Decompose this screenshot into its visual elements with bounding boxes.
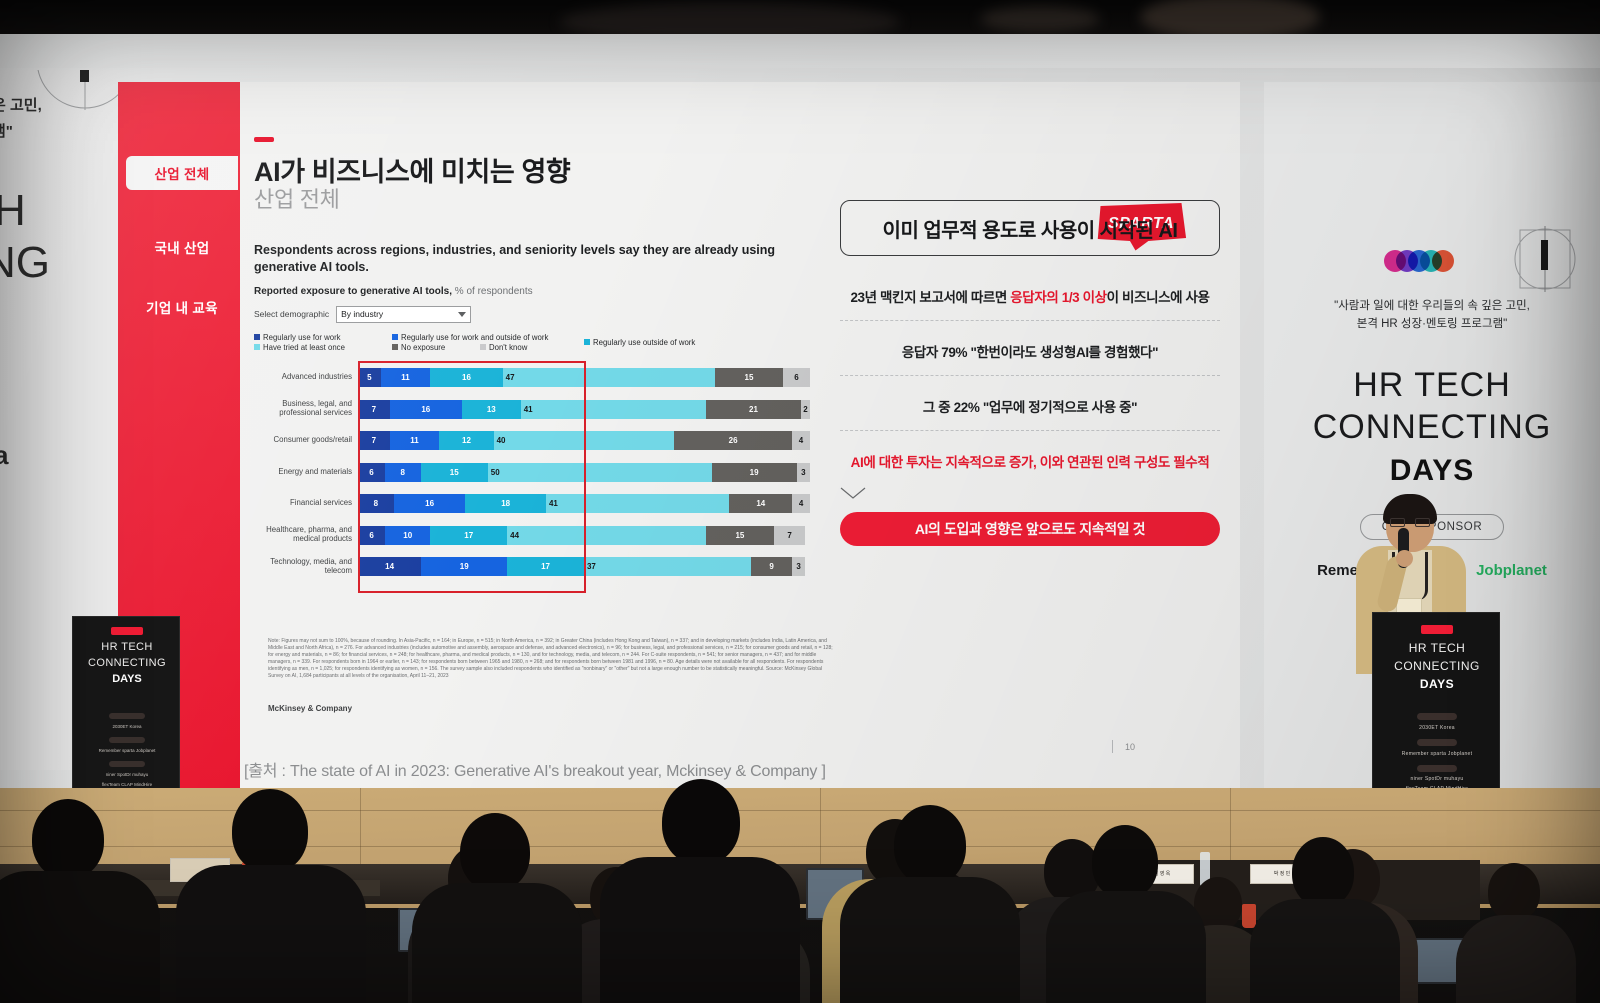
korean-cta-banner: AI의 도입과 영향은 앞으로도 지속적일 것 — [840, 512, 1220, 546]
chart-row-label: Consumer goods/retail — [254, 436, 352, 445]
chart-segment: 5 — [358, 368, 381, 387]
colored-dots-logo-icon — [1384, 250, 1456, 272]
audience: 김 영 옥 박 정 민 — [0, 780, 1600, 1003]
chart-segment: 15 — [706, 526, 774, 545]
audience-person-front — [0, 813, 160, 1003]
chart-segment: 8 — [358, 494, 394, 513]
legend-item-no-exposure: No exposure — [392, 343, 445, 352]
left-edge-quote-2: 램" — [0, 120, 13, 141]
chart-segment: 21 — [706, 400, 801, 419]
legend-label: No exposure — [401, 343, 445, 352]
chart-legend: Regularly use for work Have tried at lea… — [254, 333, 834, 359]
chart-segment: 14 — [358, 557, 421, 576]
left-banner-section-0: 2030ET Korea — [73, 724, 181, 729]
left-edge-title-1: H — [0, 186, 26, 236]
audience-person-front — [412, 827, 582, 1003]
page-subtitle: 산업 전체 — [254, 182, 340, 214]
chart-headline: Respondents across regions, industries, … — [254, 242, 819, 276]
banner-logo-icon — [111, 627, 143, 635]
left-banner-title-1: HR TECH — [73, 641, 181, 653]
chart-segment: 40 — [494, 431, 675, 450]
korean-line-accent: 응답자의 1/3 이상 — [1010, 290, 1106, 305]
podium-sign: HR TECH CONNECTING DAYS 2030ET Korea Rem… — [1372, 612, 1500, 794]
chart-subhead-grey: % of respondents — [455, 286, 533, 297]
chart-segment: 41 — [546, 494, 730, 513]
demographic-select[interactable]: By industry — [336, 306, 471, 323]
korean-line-3: 그 중 22% "업무에 정기적으로 사용 중" — [840, 396, 1220, 431]
audience-person — [1456, 867, 1576, 1003]
korean-line-1: 23년 맥킨지 보고서에 따르면 응답자의 1/3 이상이 비즈니스에 사용 — [840, 286, 1220, 321]
chart-row-label: Advanced industries — [254, 373, 352, 382]
chart-row-bars: 6101744157 — [358, 526, 810, 545]
korean-summary-panel: 이미 업무적 용도로 사용이 시작된 AI 23년 맥킨지 보고서에 따르면 응… — [840, 200, 1220, 546]
left-edge-title-2: NG — [0, 238, 50, 288]
chart-row: Energy and materials681550193 — [254, 459, 814, 485]
podium-title-3: DAYS — [1373, 677, 1501, 691]
chart-segment: 6 — [783, 368, 810, 387]
chart-segment: 3 — [797, 463, 810, 482]
chart-segment: 16 — [390, 400, 462, 419]
chart-note-text: Note: Figures may not sum to 100%, becau… — [268, 638, 833, 672]
chart-segment: 7 — [358, 431, 390, 450]
chart-segment: 17 — [507, 557, 584, 576]
chart-segment: 6 — [358, 526, 385, 545]
chart-segment: 50 — [488, 463, 712, 482]
chart-row-bars: 681550193 — [358, 463, 810, 482]
legend-item-dont-know: Don't know — [480, 343, 527, 352]
legend-label: Have tried at least once — [263, 343, 345, 352]
legend-label: Don't know — [489, 343, 527, 352]
chart-row: Advanced industries5111647156 — [254, 365, 814, 391]
legend-item-tried-once: Have tried at least once — [254, 343, 345, 352]
chevron-down-icon — [840, 487, 866, 499]
chart-segment: 18 — [465, 494, 546, 513]
chart-segment: 17 — [430, 526, 507, 545]
korean-line-2: 응답자 79% "한번이라도 생성형AI를 경험했다" — [840, 341, 1220, 376]
chart-segment: 8 — [385, 463, 421, 482]
demographic-select-value: By industry — [341, 309, 383, 319]
sidebar-tab-label: 국내 산업 — [155, 237, 210, 257]
audience-person-front — [1250, 851, 1400, 1003]
korean-line-accent: AI에 대한 투자는 지속적으로 증가, 이와 연관된 인력 구성도 필수적 — [851, 455, 1210, 470]
legend-item-work-and-outside: Regularly use for work and outside of wo… — [392, 333, 548, 342]
korean-line-pre: 그 중 22% "업무에 정기적으로 사용 중" — [923, 400, 1137, 415]
korean-line-post: 이 비즈니스에 사용 — [1107, 290, 1210, 305]
hr-banner-title-1: HR TECH — [1264, 366, 1600, 405]
glasses-icon — [1390, 518, 1430, 527]
left-standing-banner: HR TECH CONNECTING DAYS 2030ET Korea Rem… — [72, 616, 180, 792]
sidebar-tab-industry-all[interactable]: 산업 전체 — [126, 156, 238, 190]
left-edge-title-3: a — [0, 440, 8, 471]
mckinsey-chart-block: Respondents across regions, industries, … — [254, 242, 834, 742]
chart-row: Financial services8161841144 — [254, 491, 814, 517]
mckinsey-brand: McKinsey & Company — [268, 704, 352, 713]
chart-segment: 11 — [381, 368, 431, 387]
chart-subhead: Reported exposure to generative AI tools… — [254, 286, 834, 297]
conference-room-scene: 은 고민, 램" H NG a 산업 전체 국내 산업 기업 내 교육 AI가 … — [0, 0, 1600, 1003]
chart-row: Healthcare, pharma, and medical products… — [254, 522, 814, 548]
title-accent-tick — [254, 137, 274, 142]
chart-row-bars: 7161341212 — [358, 400, 810, 419]
stacked-bar-chart: Advanced industries5111647156Business, l… — [254, 365, 814, 580]
left-banner-title-3: DAYS — [73, 673, 181, 685]
korean-line-pre: 23년 맥킨지 보고서에 따르면 — [850, 290, 1010, 305]
chart-segment: 26 — [674, 431, 792, 450]
sidebar-tab-corporate-training[interactable]: 기업 내 교육 — [126, 290, 238, 324]
chart-note: Note: Figures may not sum to 100%, becau… — [268, 638, 833, 681]
chart-segment: 7 — [358, 400, 390, 419]
korean-line-4: AI에 대한 투자는 지속적으로 증가, 이와 연관된 인력 구성도 필수적 — [840, 451, 1220, 485]
page-number-divider — [1112, 740, 1113, 753]
chart-row: Business, legal, and professional servic… — [254, 396, 814, 422]
chart-segment: 6 — [358, 463, 385, 482]
chart-row-label: Energy and materials — [254, 468, 352, 477]
hr-banner-title-2: CONNECTING — [1264, 408, 1600, 447]
legend-item-regularly-work: Regularly use for work — [254, 333, 341, 342]
podium-title-2: CONNECTING — [1373, 659, 1501, 673]
left-banner-title-2: CONNECTING — [73, 657, 181, 669]
legend-label: Regularly use outside of work — [593, 338, 695, 347]
circle-mark-icon — [1508, 222, 1582, 296]
chart-segment: 19 — [421, 557, 507, 576]
chart-segment: 4 — [792, 494, 810, 513]
chart-subhead-bold: Reported exposure to generative AI tools… — [254, 286, 452, 297]
podium-title-1: HR TECH — [1373, 641, 1501, 655]
chevron-down-icon — [458, 312, 466, 317]
chart-segment: 12 — [439, 431, 493, 450]
korean-line-pre: 응답자 79% "한번이라도 생성형AI를 경험했다" — [902, 345, 1158, 360]
left-banner-section-1: Remember sparta Jobplanet — [73, 748, 181, 753]
chart-segment: 14 — [729, 494, 792, 513]
chart-segment: 9 — [751, 557, 792, 576]
page-number: 10 — [1125, 742, 1135, 752]
chart-segment: 13 — [462, 400, 521, 419]
chart-row-label: Financial services — [254, 499, 352, 508]
chart-segment: 2 — [801, 400, 810, 419]
circle-mark-icon — [30, 70, 120, 130]
audience-person-front — [1046, 839, 1206, 1003]
sidebar-tab-label: 기업 내 교육 — [146, 297, 218, 317]
podium-section-1: Remember sparta Jobplanet — [1373, 751, 1501, 757]
sidebar-tab-domestic-industry[interactable]: 국내 산업 — [126, 230, 238, 264]
audience-person-front — [840, 819, 1020, 1003]
chart-row: Consumer goods/retail7111240264 — [254, 428, 814, 454]
chart-row-label: Healthcare, pharma, and medical products — [254, 526, 352, 544]
podium-logo-icon — [1421, 625, 1453, 634]
hr-banner-quote: "사람과 일에 대한 우리들의 속 깊은 고민, 본격 HR 성장·멘토링 프로… — [1280, 298, 1584, 334]
chart-segment: 41 — [521, 400, 706, 419]
korean-panel-header: 이미 업무적 용도로 사용이 시작된 AI — [840, 200, 1220, 256]
demographic-selector-row: Select demographic By industry — [254, 306, 834, 323]
hr-banner-quote-line1: "사람과 일에 대한 우리들의 속 깊은 고민, — [1280, 298, 1584, 316]
left-banner-section-2: niner SpotDr muhayu — [73, 772, 181, 777]
chart-segment: 15 — [421, 463, 488, 482]
podium-section-0: 2030ET Korea — [1373, 725, 1501, 731]
sidebar-tab-label: 산업 전체 — [155, 163, 210, 183]
legend-label: Regularly use for work — [263, 333, 341, 342]
chart-segment: 16 — [394, 494, 466, 513]
legend-label: Regularly use for work and outside of wo… — [401, 333, 548, 342]
chart-row-bars: 1419173793 — [358, 557, 810, 576]
slide-content: AI가 비즈니스에 미치는 영향 산업 전체 SPARTA Respondent… — [240, 82, 1240, 788]
audience-person-front — [176, 803, 366, 1003]
source-citation: [출처 : The state of AI in 2023: Generativ… — [244, 757, 826, 781]
chart-row: Technology, media, and telecom1419173793 — [254, 554, 814, 580]
chart-segment: 19 — [712, 463, 797, 482]
chart-segment: 10 — [385, 526, 430, 545]
audience-person-front — [600, 793, 800, 1003]
chart-segment: 4 — [792, 431, 810, 450]
chart-segment: 15 — [715, 368, 783, 387]
legend-item-outside-work: Regularly use outside of work — [584, 338, 695, 347]
select-demographic-label: Select demographic — [254, 309, 329, 319]
hr-banner-quote-line2: 본격 HR 성장·멘토링 프로그램" — [1280, 316, 1584, 334]
chart-segment: 37 — [584, 557, 751, 576]
chart-segment: 47 — [503, 368, 715, 387]
hr-banner-title-3: DAYS — [1264, 454, 1600, 488]
sponsor-jobplanet: Jobplanet — [1476, 562, 1547, 579]
projection-screen: 은 고민, 램" H NG a 산업 전체 국내 산업 기업 내 교육 AI가 … — [0, 34, 1600, 796]
chart-row-label: Business, legal, and professional servic… — [254, 400, 352, 418]
chart-segment: 16 — [430, 368, 502, 387]
chart-segment: 3 — [792, 557, 806, 576]
chart-row-label: Technology, media, and telecom — [254, 558, 352, 576]
chart-segment: 44 — [507, 526, 706, 545]
chart-segment: 7 — [774, 526, 806, 545]
chart-row-bars: 7111240264 — [358, 431, 810, 450]
chart-row-bars: 5111647156 — [358, 368, 810, 387]
chart-row-bars: 8161841144 — [358, 494, 810, 513]
chart-segment: 11 — [390, 431, 440, 450]
